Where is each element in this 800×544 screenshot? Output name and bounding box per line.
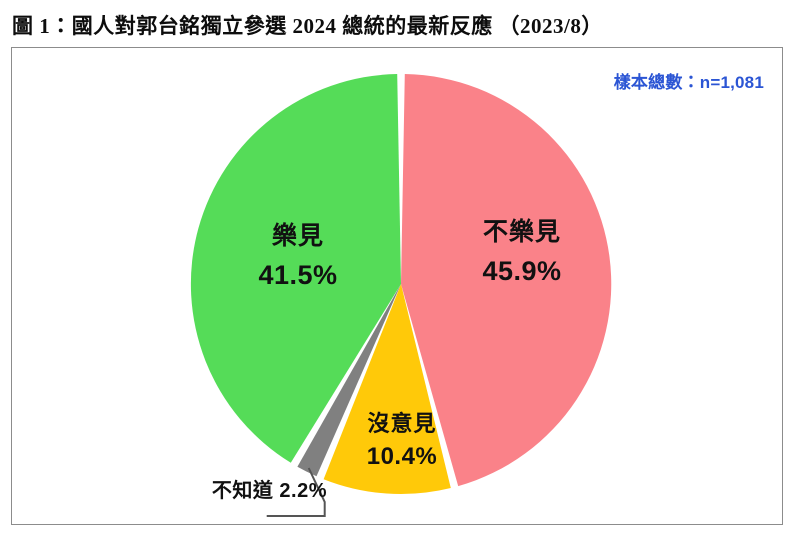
page-title: 圖 1：國人對郭台銘獨立參選 2024 總統的最新反應 （2023/8） (12, 8, 788, 42)
pie-label-no-opinion: 沒意見 10.4% (312, 410, 492, 473)
pie-label-unknown: 不知道 2.2% (167, 474, 327, 503)
pie-label-like-category: 樂見 (188, 220, 408, 252)
pie-label-dislike: 不樂見 45.9% (412, 216, 632, 289)
pie-label-dislike-percent: 45.9% (412, 254, 632, 289)
pie-label-no-opinion-category: 沒意見 (312, 410, 492, 438)
pie-label-no-opinion-percent: 10.4% (312, 442, 492, 473)
chart-frame: 樣本總數：n=1,081 不樂見 45.9% 樂見 41.5% 沒意見 10.4… (11, 47, 783, 525)
pie-label-like: 樂見 41.5% (188, 220, 408, 293)
pie-label-like-percent: 41.5% (188, 258, 408, 293)
pie-label-dislike-category: 不樂見 (412, 216, 632, 248)
